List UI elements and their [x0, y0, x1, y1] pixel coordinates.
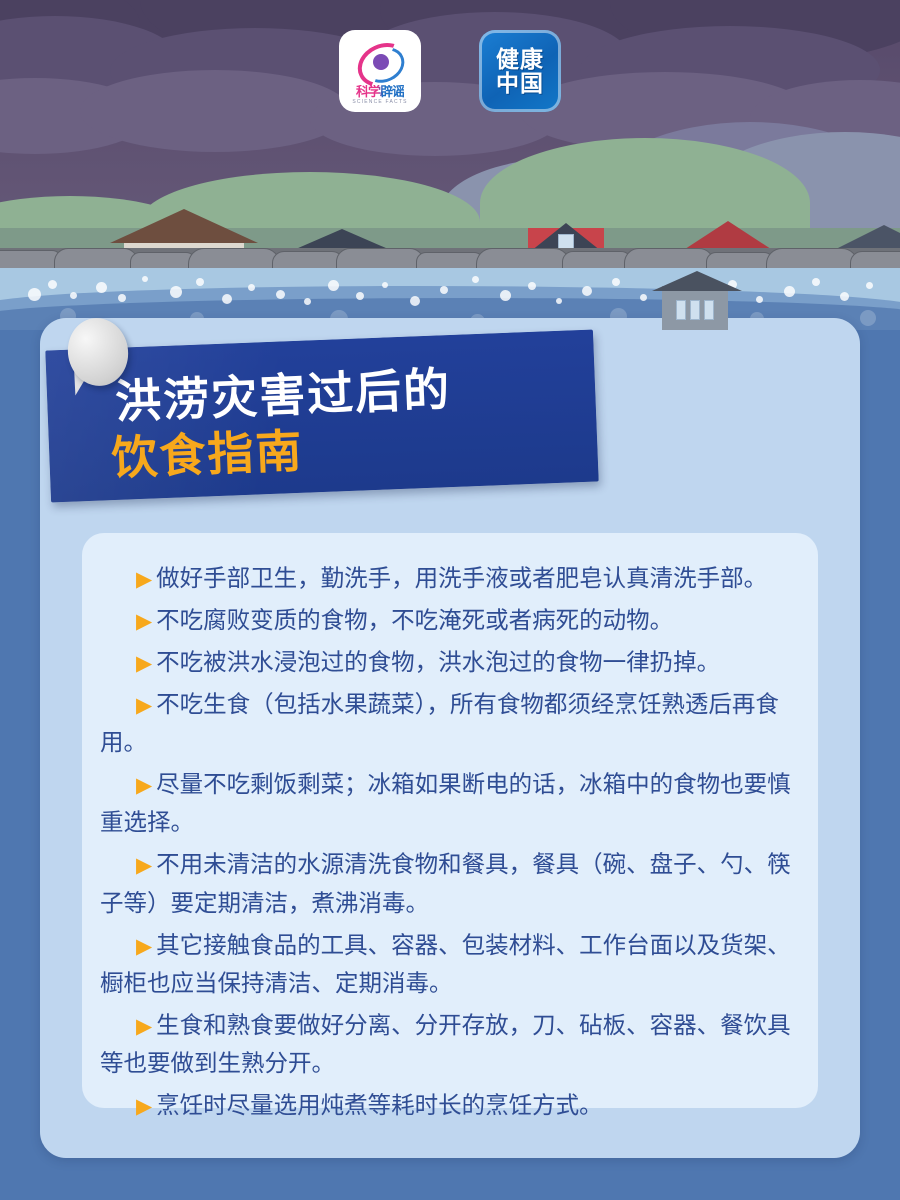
guideline-text: 其它接触食品的工具、容器、包装材料、工作台面以及货架、橱柜也应当保持清洁、定期消… — [100, 932, 791, 996]
science-facts-swirl-icon — [353, 40, 407, 84]
bullet-arrow-icon: ▶ — [136, 568, 152, 591]
guideline-item: ▶其它接触食品的工具、容器、包装材料、工作台面以及货架、橱柜也应当保持清洁、定期… — [100, 926, 800, 1002]
guideline-item: ▶不吃腐败变质的食物，不吃淹死或者病死的动物。 — [100, 601, 800, 639]
guideline-item: ▶尽量不吃剩饭剩菜；冰箱如果断电的话，冰箱中的食物也要慎重选择。 — [100, 765, 800, 841]
guidelines-panel: ▶做好手部卫生，勤洗手，用洗手液或者肥皂认真清洗手部。▶不吃腐败变质的食物，不吃… — [82, 533, 818, 1108]
bullet-arrow-icon: ▶ — [136, 854, 152, 877]
guideline-text: 烹饪时尽量选用炖煮等耗时长的烹饪方式。 — [156, 1092, 603, 1118]
bullet-arrow-icon: ▶ — [136, 652, 152, 675]
guideline-item: ▶烹饪时尽量选用炖煮等耗时长的烹饪方式。 — [100, 1086, 800, 1124]
logo-science-facts-en: SCIENCE FACTS — [352, 99, 407, 105]
guideline-item: ▶不吃被洪水浸泡过的食物，洪水泡过的食物一律扔掉。 — [100, 643, 800, 681]
logo-healthy-china-line1: 健康 — [496, 47, 544, 71]
logo-healthy-china: 健康 中国 — [479, 30, 561, 112]
guideline-text: 不吃腐败变质的食物，不吃淹死或者病死的动物。 — [156, 607, 673, 633]
logo-healthy-china-line2: 中国 — [496, 71, 544, 95]
guideline-item: ▶生食和熟食要做好分离、分开存放，刀、砧板、容器、餐饮具等也要做到生熟分开。 — [100, 1006, 800, 1082]
guideline-item: ▶不用未清洁的水源清洗食物和餐具，餐具（碗、盘子、勺、筷子等）要定期清洁，煮沸消… — [100, 845, 800, 921]
guidelines-list: ▶做好手部卫生，勤洗手，用洗手液或者肥皂认真清洗手部。▶不吃腐败变质的食物，不吃… — [82, 533, 818, 1128]
bullet-arrow-icon: ▶ — [136, 774, 152, 797]
poster: 科学辟谣 SCIENCE FACTS 健康 中国 ▶做好手部卫生，勤洗手，用洗手… — [0, 0, 900, 1200]
bullet-arrow-icon: ▶ — [136, 935, 152, 958]
guideline-item: ▶不吃生食（包括水果蔬菜），所有食物都须经烹饪熟透后再食用。 — [100, 685, 800, 761]
guideline-text: 不用未清洁的水源清洗食物和餐具，餐具（碗、盘子、勺、筷子等）要定期清洁，煮沸消毒… — [100, 851, 791, 915]
bullet-arrow-icon: ▶ — [136, 1015, 152, 1038]
guideline-text: 生食和熟食要做好分离、分开存放，刀、砧板、容器、餐饮具等也要做到生熟分开。 — [100, 1012, 791, 1076]
house-grey — [652, 268, 742, 330]
pushpin-icon — [64, 318, 130, 392]
title-banner-wrap: 洪涝灾害过后的 饮食指南 — [48, 340, 596, 492]
title-line-2: 饮食指南 — [110, 415, 304, 488]
guideline-text: 尽量不吃剩饭剩菜；冰箱如果断电的话，冰箱中的食物也要慎重选择。 — [100, 771, 791, 835]
guideline-text: 不吃生食（包括水果蔬菜），所有食物都须经烹饪熟透后再食用。 — [100, 691, 779, 755]
bullet-arrow-icon: ▶ — [136, 1095, 152, 1118]
guideline-text: 做好手部卫生，勤洗手，用洗手液或者肥皂认真清洗手部。 — [156, 565, 767, 591]
logo-bar: 科学辟谣 SCIENCE FACTS 健康 中国 — [0, 30, 900, 112]
bullet-arrow-icon: ▶ — [136, 694, 152, 717]
guideline-item: ▶做好手部卫生，勤洗手，用洗手液或者肥皂认真清洗手部。 — [100, 559, 800, 597]
logo-science-facts: 科学辟谣 SCIENCE FACTS — [339, 30, 421, 112]
guideline-text: 不吃被洪水浸泡过的食物，洪水泡过的食物一律扔掉。 — [156, 649, 720, 675]
bullet-arrow-icon: ▶ — [136, 610, 152, 633]
